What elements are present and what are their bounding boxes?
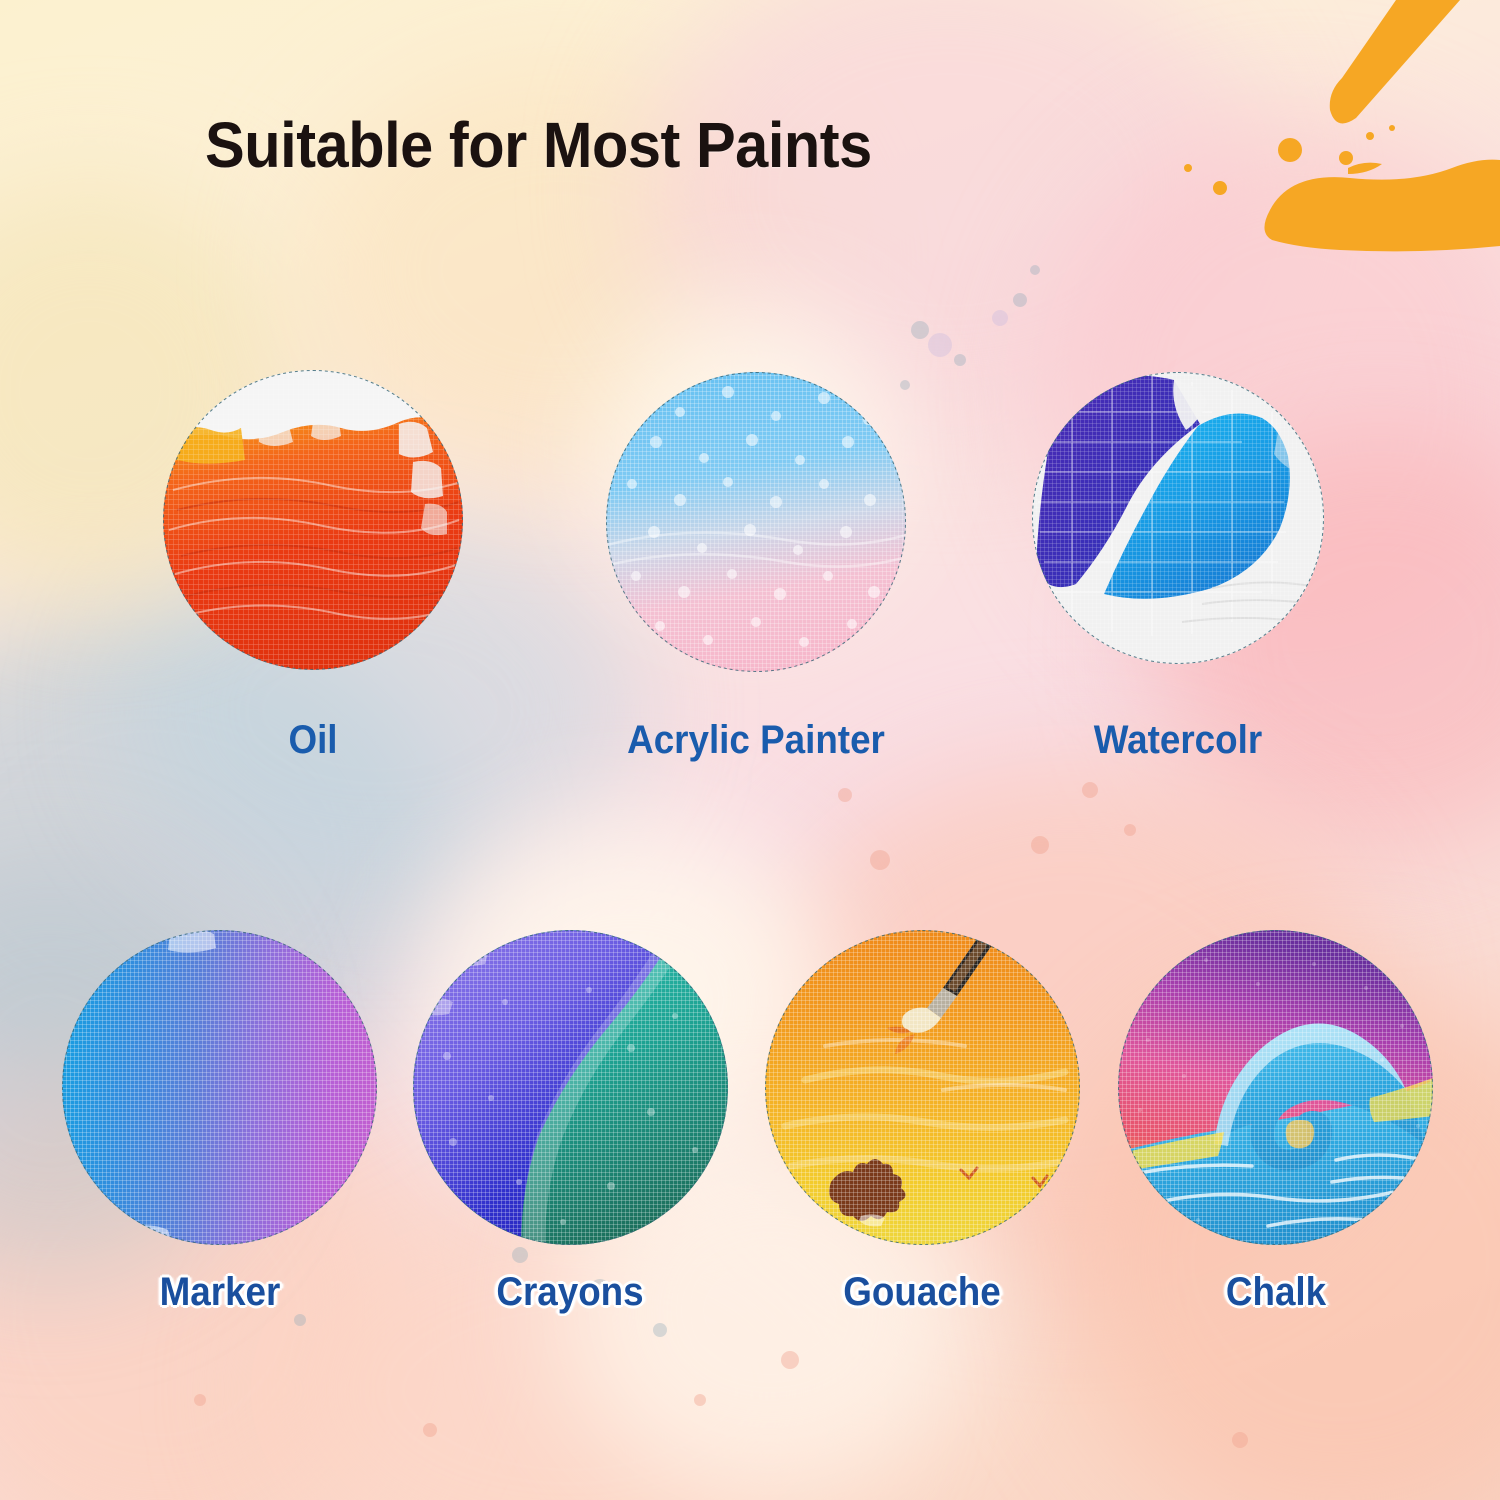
acrylic-paint-swatch [606, 372, 906, 672]
acrylic-swatch-label: Acrylic Painter [600, 718, 913, 763]
gouache-swatch [765, 930, 1080, 1245]
poster-canvas: Suitable for Most Paints [0, 0, 1500, 1500]
crayons-swatch [413, 930, 728, 1245]
watercolor-paint-swatch [1032, 372, 1324, 664]
marker-swatch [62, 930, 377, 1245]
orange-paint-stroke-icon [1160, 0, 1500, 270]
marker-swatch-label: Marker [82, 1270, 358, 1315]
chalk-swatch-label: Chalk [1138, 1270, 1414, 1315]
oil-paint-swatch [163, 370, 463, 670]
gouache-swatch-label: Gouache [784, 1270, 1060, 1315]
watercolor-swatch-label: Watercolr [1040, 718, 1316, 763]
leaf-shape [829, 1159, 905, 1221]
chalk-swatch [1118, 930, 1433, 1245]
paintbrush [887, 932, 1001, 1054]
crayons-swatch-label: Crayons [432, 1270, 708, 1315]
oil-swatch-label: Oil [175, 718, 451, 763]
page-title: Suitable for Most Paints [205, 108, 872, 182]
